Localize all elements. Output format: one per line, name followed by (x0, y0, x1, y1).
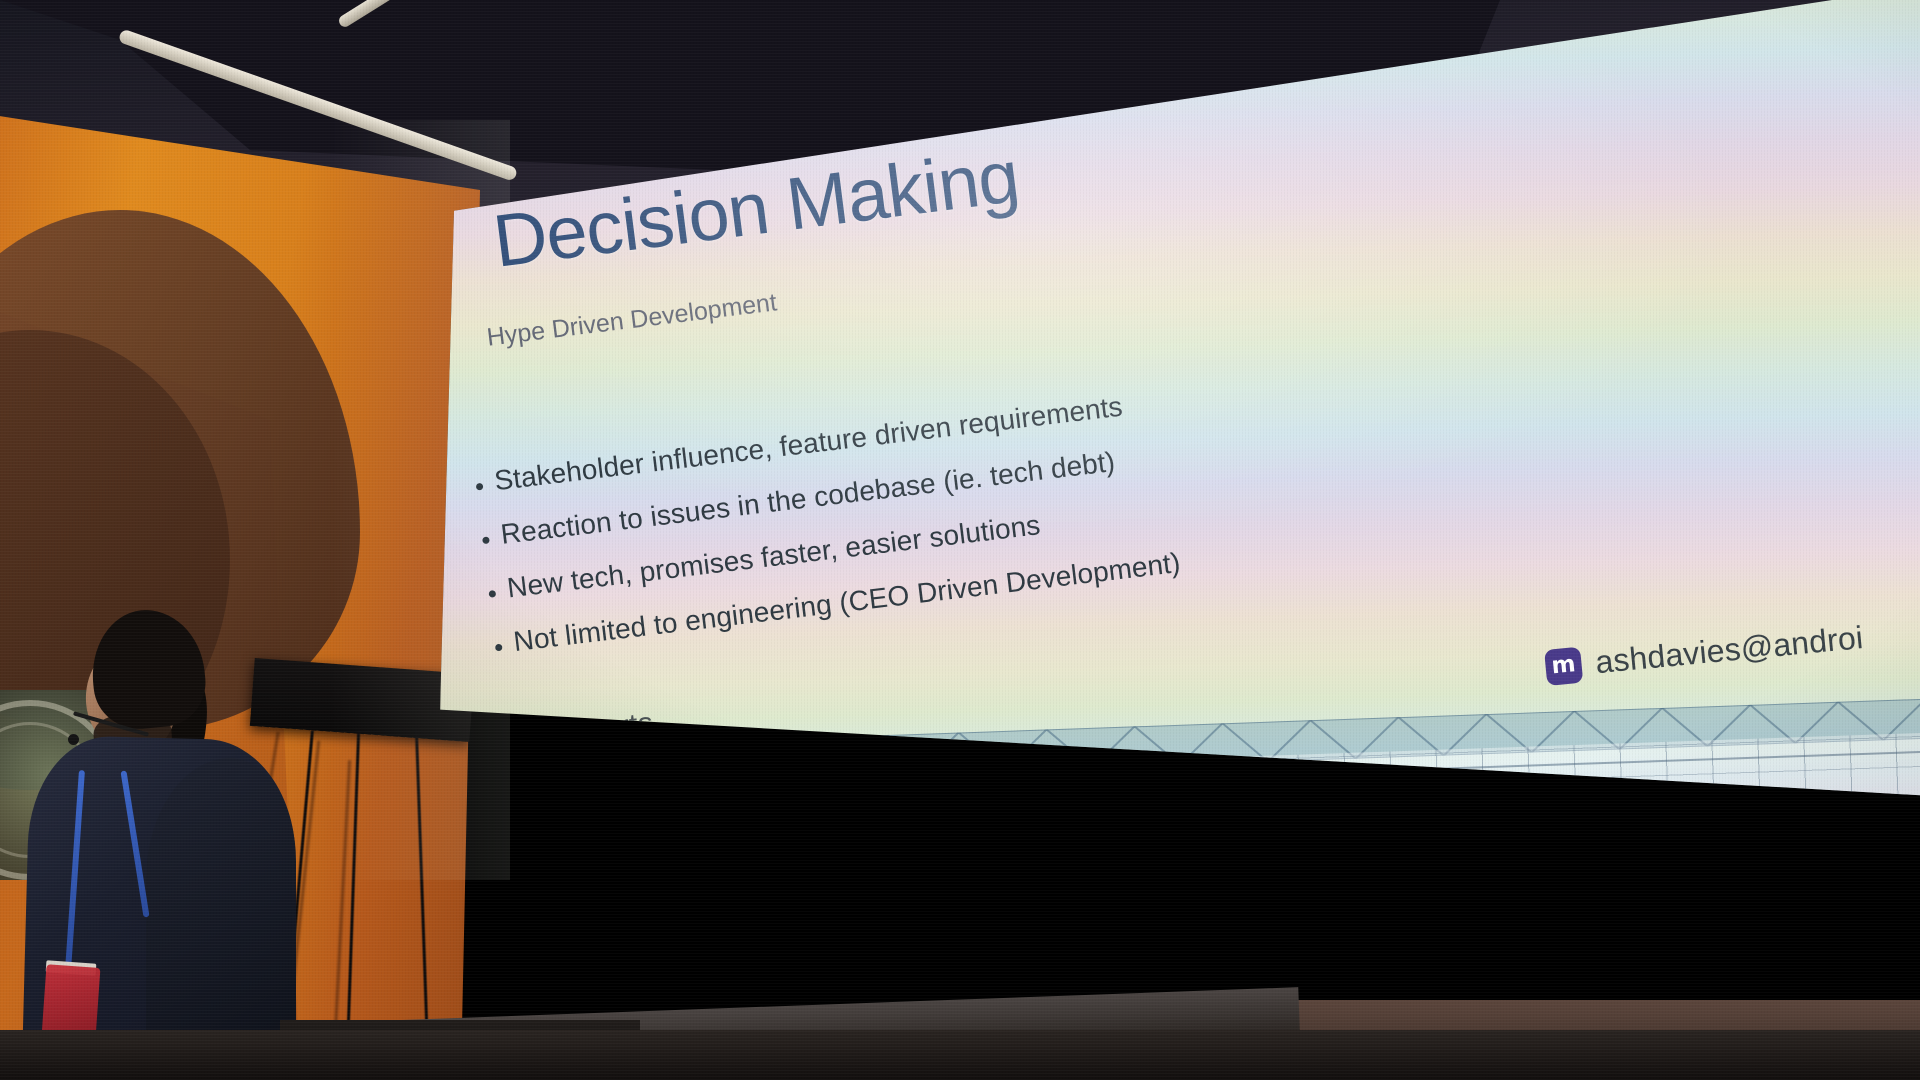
slide-title: Decision Making (489, 133, 1023, 283)
slide: Decision Making Hype Driven Development … (440, 0, 1920, 830)
projection-screen: Decision Making Hype Driven Development … (440, 0, 1920, 830)
code-chevron-icon (485, 720, 541, 760)
presenter-hair (86, 604, 210, 733)
slide-bullet-list: Stakeholder influence, feature driven re… (474, 314, 1790, 682)
presenter (20, 610, 320, 1080)
mastodon-icon: m (1544, 646, 1583, 685)
bullet-dot-icon (482, 536, 490, 544)
bullet-dot-icon (488, 590, 496, 598)
slide-subtitle: Hype Driven Development (485, 288, 778, 352)
mastodon-handle: m ashdavies@androi (1544, 619, 1865, 686)
conference-badge (42, 964, 101, 1040)
conference-photo-scene: Decision Making Hype Driven Development … (0, 0, 1920, 1080)
mastodon-glyph: m (1551, 653, 1577, 678)
bullet-dot-icon (476, 483, 484, 491)
mastodon-handle-text: ashdavies@androi (1594, 619, 1865, 681)
experts-logo: Experts (485, 706, 656, 759)
experts-logo-text: Experts (548, 706, 655, 752)
floor (0, 1030, 1920, 1080)
mic-capsule (68, 734, 79, 745)
slide-content: Decision Making Hype Driven Development … (440, 0, 1920, 830)
bullet-dot-icon (495, 644, 503, 652)
bridge-truss-graphic (739, 690, 1920, 838)
